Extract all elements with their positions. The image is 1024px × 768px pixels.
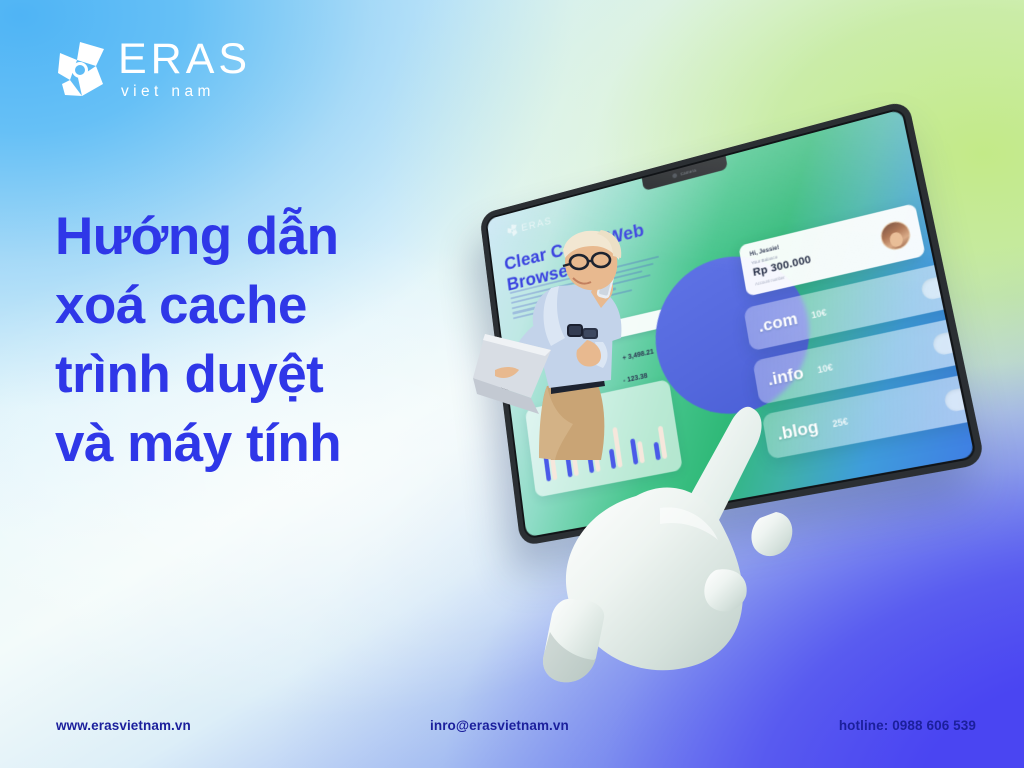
account-number: Account number (755, 252, 885, 287)
poster-canvas: ERAS viet nam Hướng dẫn xoá cache trình … (0, 0, 1024, 768)
account-greeting: Hi, Jessie! (749, 220, 878, 258)
domain-name-com: .com (757, 309, 799, 337)
page-title: Hướng dẫn xoá cache trình duyệt và máy t… (55, 203, 485, 479)
toggle-knob-icon (967, 386, 974, 406)
headline-line-2: xoá cache (55, 272, 485, 341)
headline-line-3: trình duyệt (55, 341, 485, 410)
eras-pinwheel-logo-icon (56, 40, 108, 98)
headline-line-1: Hướng dẫn (55, 203, 485, 272)
domain-price-com: 10€ (810, 307, 827, 320)
brand-logo: ERAS viet nam (56, 38, 251, 100)
avatar (878, 218, 912, 252)
footer-website[interactable]: www.erasvietnam.vn (56, 718, 191, 733)
domain-row-info[interactable]: .info 10€ (752, 312, 974, 405)
brand-name: ERAS (118, 38, 251, 81)
domain-price-blog: 25€ (832, 416, 849, 429)
brand-tagline: viet nam (121, 84, 251, 100)
domain-toggle-blog[interactable] (943, 383, 975, 413)
footer-hotline[interactable]: hotline: 0988 606 539 (839, 718, 976, 733)
pointing-hand (540, 400, 820, 690)
account-balance-label: Your Balance (751, 230, 880, 265)
domain-row-com[interactable]: .com 10€ (743, 256, 974, 351)
toggle-knob-icon (955, 329, 974, 349)
domain-name-info: .info (766, 363, 805, 390)
headline-line-4: và máy tính (55, 410, 485, 479)
footer-email[interactable]: inro@erasvietnam.vn (430, 718, 569, 733)
toggle-knob-icon (944, 274, 965, 294)
domain-price-info: 10€ (817, 362, 834, 375)
footer: www.erasvietnam.vn inro@erasvietnam.vn h… (0, 718, 1024, 740)
